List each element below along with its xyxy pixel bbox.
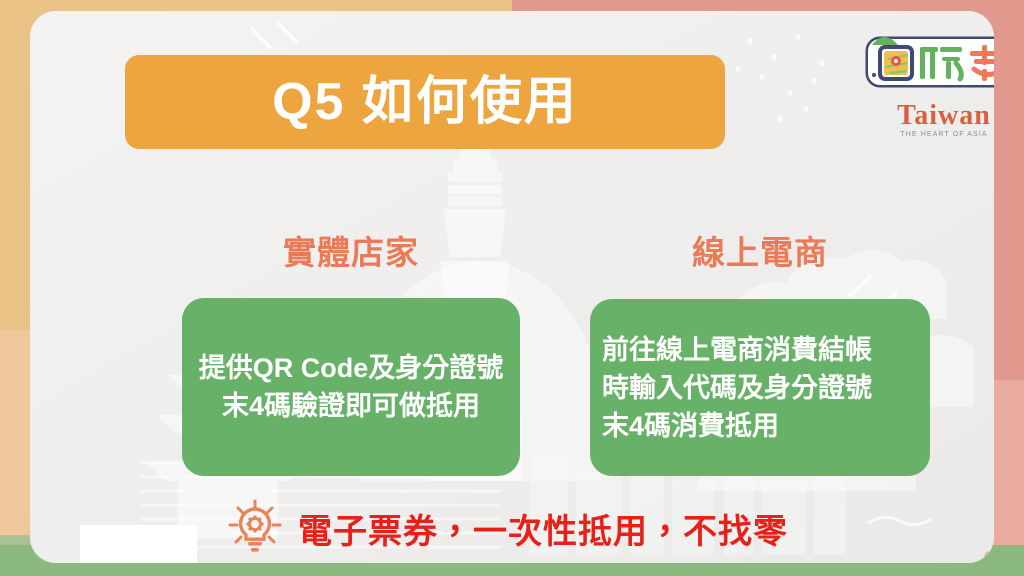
travel-voucher-logo-icon: [858, 29, 994, 101]
brand-logo: Taiwan THE HEART OF ASIA: [858, 29, 994, 149]
content-box-physical-store: 提供QR Code及身分證號 末4碼驗證即可做抵用: [182, 298, 520, 476]
footnote-text: 電子票券，一次性抵用，不找零: [298, 504, 788, 553]
slide-card: Q5 如何使用: [30, 11, 994, 563]
footnote-row: 電子票券，一次性抵用，不找零: [226, 498, 788, 558]
lightbulb-gear-icon: [226, 499, 284, 557]
content-line: 前往線上電商消費結帳: [602, 331, 918, 369]
page-number: 9: [976, 549, 994, 563]
content-line: 末4碼驗證即可做抵用: [188, 387, 514, 425]
content-box-online-store: 前往線上電商消費結帳 時輸入代碼及身分證號 末4碼消費抵用: [590, 299, 930, 476]
content-box-text: 前往線上電商消費結帳 時輸入代碼及身分證號 末4碼消費抵用: [602, 331, 918, 445]
content-line: 提供QR Code及身分證號: [188, 349, 514, 387]
column-heading-physical-store: 實體店家: [182, 226, 520, 274]
content-line: 末4碼消費抵用: [602, 407, 918, 445]
content-box-text: 提供QR Code及身分證號 末4碼驗證即可做抵用: [188, 349, 514, 425]
slide: Q5 如何使用: [0, 0, 1024, 576]
content-line: 時輸入代碼及身分證號: [602, 369, 918, 407]
column-heading-online-store: 線上電商: [590, 226, 930, 274]
logo-wordmark: Taiwan: [858, 101, 994, 131]
logo-tagline: THE HEART OF ASIA: [858, 131, 994, 138]
redaction-block: [80, 525, 197, 563]
page-title: Q5 如何使用: [272, 76, 578, 128]
slide-title-banner: Q5 如何使用: [125, 55, 725, 149]
